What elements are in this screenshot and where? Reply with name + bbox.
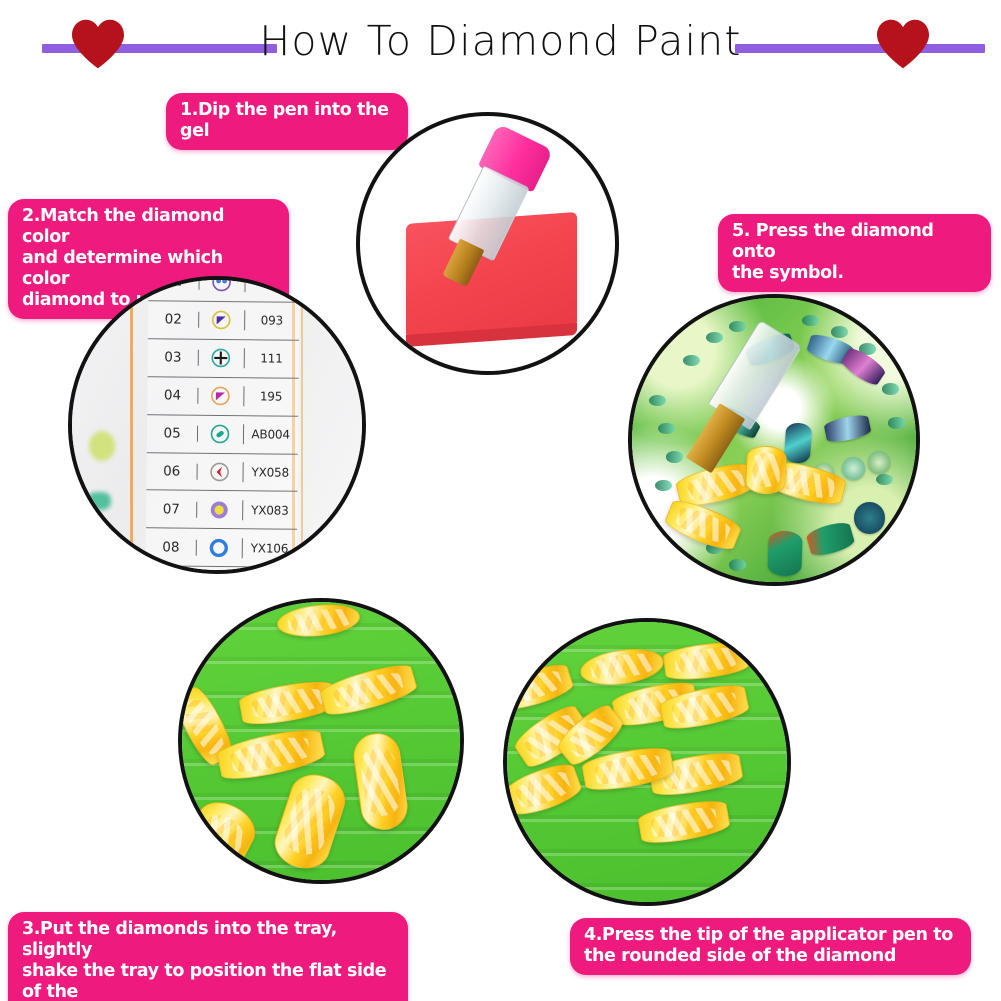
step-5-label: 5. Press the diamond onto the symbol. xyxy=(718,214,991,292)
printed-symbol-dot xyxy=(729,559,746,570)
plus-symbol xyxy=(199,348,244,368)
printed-symbol-dot xyxy=(658,423,675,434)
triangle-symbol xyxy=(200,310,245,330)
chart-cell-code: 111 xyxy=(245,351,299,366)
step-3-label: 3.Put the diamonds into the tray, slight… xyxy=(8,912,408,1001)
triangle-symbol xyxy=(199,386,244,406)
step-4-photo-content xyxy=(507,622,787,902)
color-chart-table: 0102802093031110419505AB00406YX05807YX08… xyxy=(146,276,300,574)
chart-margin-line xyxy=(301,276,303,574)
chart-cell-number: 07 xyxy=(147,501,198,518)
chart-cell-number: 02 xyxy=(149,311,200,328)
color-chart-row: 02093 xyxy=(148,301,299,340)
chart-cell-code: YX083 xyxy=(243,503,297,518)
chart-margin-line xyxy=(130,276,133,574)
chart-cell-code: YX106 xyxy=(243,541,297,556)
chart-cell-number: 06 xyxy=(147,463,198,480)
printed-symbol-dot xyxy=(882,383,899,394)
color-chart-row: 06YX058 xyxy=(147,452,298,491)
color-chart-row: 05AB004 xyxy=(147,414,298,453)
canvas-print-blob xyxy=(87,492,111,510)
photo-placing-diamond-on-canvas xyxy=(628,294,920,586)
canvas-print-blob xyxy=(89,431,115,461)
chart-cell-number: 04 xyxy=(148,387,199,404)
chart-cell-code: YX058 xyxy=(243,465,297,480)
step-4-label: 4.Press the tip of the applicator pen to… xyxy=(570,918,971,975)
ring-symbol xyxy=(197,537,242,557)
color-chart-row: 07YX083 xyxy=(146,490,297,529)
printed-symbol-dot xyxy=(649,395,666,406)
pen-tip xyxy=(686,404,745,474)
printed-symbol-dot xyxy=(655,480,672,491)
printed-symbol-dot xyxy=(831,326,848,337)
chart-cell-number: 08 xyxy=(146,539,197,556)
capsule-symbol xyxy=(199,423,244,443)
step-5-photo-content xyxy=(632,298,916,582)
canvas-gem xyxy=(842,457,865,480)
photo-pen-picking-up-diamond xyxy=(503,618,791,906)
color-chart-row: 08YX106 xyxy=(146,528,297,567)
color-chart-row: 03111 xyxy=(148,339,299,378)
step-3-photo-content xyxy=(182,602,460,880)
printed-symbol-dot xyxy=(729,321,746,332)
chart-cell-number: 05 xyxy=(147,425,198,442)
color-chart-row: 09YX125 xyxy=(146,566,297,574)
page-header: How To Diamond Paint xyxy=(0,0,1001,90)
printed-symbol-dot xyxy=(888,417,905,428)
color-chart-row: 01028 xyxy=(149,276,300,302)
canvas-gem xyxy=(768,530,804,577)
page-title: How To Diamond Paint xyxy=(0,16,1001,66)
photo-color-symbol-chart: 0102802093031110419505AB00406YX05807YX08… xyxy=(68,276,366,574)
chart-cell-code: 093 xyxy=(245,313,299,328)
chart-cell-code: 195 xyxy=(244,389,298,404)
canvas-gem xyxy=(868,451,891,474)
photo-diamonds-in-tray xyxy=(178,598,464,884)
color-chart-sheet: 0102802093031110419505AB00406YX05807YX08… xyxy=(72,280,362,570)
step-1-photo-content xyxy=(360,116,615,371)
infographic-page: How To Diamond Paint 1.Dip the pen into … xyxy=(0,0,1001,1001)
chart-cell-code: AB004 xyxy=(244,427,298,442)
photo-pen-dipping-into-gel xyxy=(356,112,619,375)
color-chart-row: 04195 xyxy=(148,377,299,416)
dot-symbol xyxy=(198,499,243,519)
glasses-symbol xyxy=(200,276,245,292)
arrow-symbol xyxy=(198,461,243,481)
canvas-gem xyxy=(784,422,812,463)
chart-cell-number: 03 xyxy=(148,349,199,366)
diamond-gem xyxy=(745,445,786,495)
